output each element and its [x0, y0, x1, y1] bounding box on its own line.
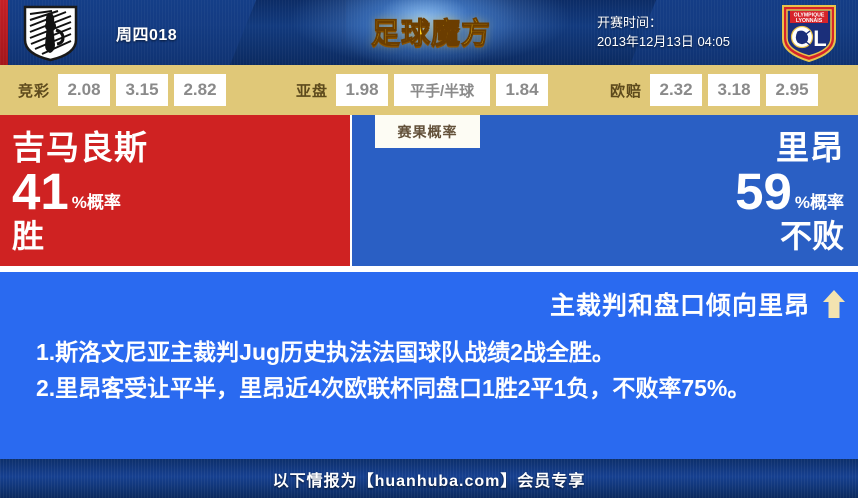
- odds-bar: 竞彩 2.08 3.15 2.82 亚盘 1.98 平手/半球 1.84 欧赔 …: [0, 65, 858, 115]
- kickoff-label: 开赛时间：: [597, 13, 730, 32]
- odds-cell-asian-away[interactable]: 1.84: [496, 74, 548, 106]
- analysis-headline: 主裁判和盘口倾向里昂: [550, 286, 810, 322]
- home-probability-panel: 吉马良斯 41 %概率 胜: [0, 115, 350, 266]
- footer-bar: 以下情报为【huanhuba.com】会员专享: [0, 459, 858, 498]
- odds-cell-europe-away[interactable]: 2.95: [766, 74, 818, 106]
- home-probability-result: 胜: [12, 220, 148, 252]
- infographic-page: 周四018 足球魔方 开赛时间： 2013年12月13日 04:05 OLYMP…: [0, 0, 858, 498]
- home-probability-value: 41: [12, 168, 69, 216]
- header-red-stripe: [0, 0, 8, 65]
- odds-cell-europe-draw[interactable]: 3.18: [708, 74, 760, 106]
- home-probability-value-line: 41 %概率: [12, 168, 148, 216]
- crest-letters: L: [813, 26, 826, 51]
- away-probability-result: 不败: [735, 220, 844, 252]
- home-team-name: 吉马良斯: [12, 131, 148, 164]
- crest-text-bottom: LYONNAIS: [796, 18, 823, 24]
- kickoff-value: 2013年12月13日 04:05: [597, 32, 730, 51]
- away-probability-block: 里昂 59 %概率 不败: [735, 131, 844, 252]
- brand-logo-text: 足球魔方: [371, 10, 491, 52]
- odds-label-europe: 欧赔: [610, 80, 642, 101]
- olympique-lyonnais-crest: OLYMPIQUE LYONNAIS L: [779, 3, 839, 63]
- match-number: 周四018: [116, 21, 177, 45]
- away-probability-value-line: 59 %概率: [735, 168, 844, 216]
- home-probability-block: 吉马良斯 41 %概率 胜: [12, 131, 148, 252]
- home-probability-unit: %概率: [72, 194, 121, 211]
- away-team-name: 里昂: [735, 131, 844, 164]
- analysis-panel: 主裁判和盘口倾向里昂 1.斯洛文尼亚主裁判Jug历史执法法国球队战绩2战全胜。 …: [0, 272, 858, 459]
- brand-logo: 足球魔方: [360, 5, 502, 57]
- away-probability-unit: %概率: [795, 194, 844, 211]
- odds-cell-jingcai-home[interactable]: 2.08: [58, 74, 110, 106]
- vitoria-guimaraes-crest: [22, 4, 79, 62]
- kickoff-time-block: 开赛时间： 2013年12月13日 04:05: [597, 13, 730, 51]
- odds-label-jingcai: 竞彩: [18, 80, 50, 101]
- analysis-body: 1.斯洛文尼亚主裁判Jug历史执法法国球队战绩2战全胜。 2.里昂客受让平半，里…: [36, 334, 831, 406]
- odds-group-europe: 欧赔 2.32 3.18 2.95: [610, 74, 824, 106]
- odds-cell-asian-home[interactable]: 1.98: [336, 74, 388, 106]
- odds-label-asian: 亚盘: [296, 80, 328, 101]
- analysis-line-1: 1.斯洛文尼亚主裁判Jug历史执法法国球队战绩2战全胜。: [36, 334, 831, 370]
- probability-tab-label: 赛果概率: [375, 115, 480, 148]
- odds-group-jingcai: 竞彩 2.08 3.15 2.82: [18, 74, 232, 106]
- analysis-headline-row: 主裁判和盘口倾向里昂: [550, 286, 846, 322]
- odds-cell-asian-handicap[interactable]: 平手/半球: [394, 74, 490, 106]
- analysis-line-2: 2.里昂客受让平半，里昂近4次欧联杯同盘口1胜2平1负，不败率75%。: [36, 370, 831, 406]
- odds-cell-europe-home[interactable]: 2.32: [650, 74, 702, 106]
- away-probability-value: 59: [735, 168, 792, 216]
- odds-cell-jingcai-away[interactable]: 2.82: [174, 74, 226, 106]
- footer-membership-note: 以下情报为【huanhuba.com】会员专享: [273, 467, 586, 491]
- arrow-up-icon: [822, 289, 846, 319]
- odds-group-asian: 亚盘 1.98 平手/半球 1.84: [296, 74, 554, 106]
- odds-cell-jingcai-draw[interactable]: 3.15: [116, 74, 168, 106]
- match-header: 周四018 足球魔方 开赛时间： 2013年12月13日 04:05 OLYMP…: [0, 0, 858, 65]
